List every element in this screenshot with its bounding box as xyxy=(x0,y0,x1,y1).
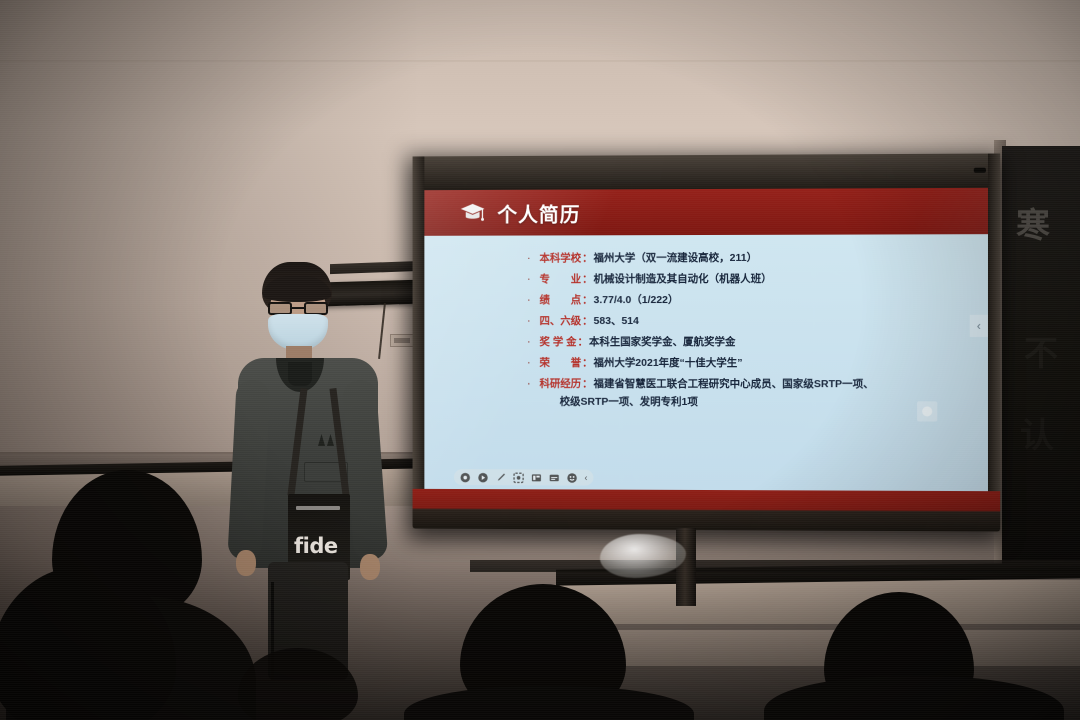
presenter: fide xyxy=(232,262,382,662)
emoji-icon[interactable] xyxy=(567,472,578,483)
display-stand-pole xyxy=(676,528,696,606)
bullet-dot: · xyxy=(527,335,531,349)
record-icon[interactable] xyxy=(460,472,471,483)
display-bezel-top xyxy=(413,153,1001,190)
classroom-presentation-photo: 寒 不 认 个人简历 xyxy=(0,0,1080,720)
bullet-separator: ： xyxy=(582,251,592,265)
slide-bullet: · 科研经历 ： 福建省智慧医工联合工程研究中心成员、国家级SRTP一项、 xyxy=(424,377,988,392)
bullet-dot: · xyxy=(527,251,531,265)
bullet-value: 583、514 xyxy=(594,314,639,328)
bullet-label: 四、六级 xyxy=(540,314,582,328)
bullet-value: 3.77/4.0（1/222） xyxy=(594,293,679,307)
chalk-mark: 寒 xyxy=(1016,198,1050,247)
interactive-whiteboard[interactable]: 个人简历 · 本科学校 ： 福州大学（双一流建设高校，211） · 专 业 ： … xyxy=(413,153,1001,531)
badge-text: fide xyxy=(294,534,338,558)
bullet-separator: ： xyxy=(582,293,592,307)
bullet-dot: · xyxy=(527,314,531,328)
pen-icon[interactable] xyxy=(495,472,506,483)
bullet-label: 绩 点 xyxy=(540,293,582,307)
slide-bullet: · 荣 誉 ： 福州大学2021年度“十佳大学生” xyxy=(424,356,988,370)
slide-bullet: · 奖 学 金 ： 本科生国家奖学金、厦航奖学金 xyxy=(424,335,988,349)
badge-top-line xyxy=(296,506,340,510)
slide-title-bar: 个人简历 xyxy=(424,188,988,236)
bullet-value: 福州大学（双一流建设高校，211） xyxy=(594,251,758,265)
bullet-label: 专 业 xyxy=(540,272,582,286)
bullet-dot: · xyxy=(527,356,531,370)
bullet-dot: · xyxy=(527,272,531,286)
slide-screen[interactable]: 个人简历 · 本科学校 ： 福州大学（双一流建设高校，211） · 专 业 ： … xyxy=(424,188,988,491)
bullet-value: 福建省智慧医工联合工程研究中心成员、国家级SRTP一项、 xyxy=(594,377,874,391)
bullet-dot: · xyxy=(527,377,531,391)
select-icon[interactable] xyxy=(513,472,524,483)
whiteboard-toolbar[interactable]: ‹ xyxy=(454,469,594,485)
presenter-hand-right xyxy=(360,554,380,580)
bullet-label: 科研经历 xyxy=(540,377,582,391)
slide-bullet: · 本科学校 ： 福州大学（双一流建设高校，211） xyxy=(424,250,988,265)
bullet-value: 福州大学2021年度“十佳大学生” xyxy=(594,356,743,370)
slide-bullet: · 专 业 ： 机械设计制造及其自动化（机器人班） xyxy=(424,271,988,286)
bullet-separator: ： xyxy=(582,272,592,286)
wall-seam xyxy=(0,60,1080,62)
desk-front-panel xyxy=(560,580,1080,624)
bullet-dot: · xyxy=(527,293,531,307)
slide-bullet: · 绩 点 ： 3.77/4.0（1/222） xyxy=(424,293,988,308)
screen-icon[interactable] xyxy=(531,472,542,483)
toolbar-collapse-icon[interactable]: ‹ xyxy=(584,473,587,483)
bullet-separator: ： xyxy=(582,356,592,370)
presenter-hand-left xyxy=(236,550,256,576)
bullet-value: 机械设计制造及其自动化（机器人班） xyxy=(594,272,772,286)
blackboard: 寒 不 认 xyxy=(1002,146,1080,566)
bullet-separator: ： xyxy=(578,335,588,349)
slide-body: · 本科学校 ： 福州大学（双一流建设高校，211） · 专 业 ： 机械设计制… xyxy=(424,234,988,491)
desk-surface xyxy=(470,560,1080,572)
face-mask xyxy=(268,314,328,350)
bullet-separator: ： xyxy=(582,314,592,328)
display-bezel-bottom xyxy=(413,489,1001,532)
subtitle-icon[interactable] xyxy=(549,472,560,483)
slide-bullet: · 四、六级 ： 583、514 xyxy=(424,314,988,328)
bullet-separator: ： xyxy=(582,377,592,391)
camera-icon xyxy=(974,168,986,173)
bullet-continuation: 校级SRTP一项、发明专利1项 xyxy=(424,395,988,410)
bullet-value: 本科生国家奖学金、厦航奖学金 xyxy=(589,335,736,349)
chevron-left-icon[interactable]: ‹ xyxy=(970,315,988,337)
display-bezel-left xyxy=(413,156,425,528)
play-icon[interactable] xyxy=(478,472,489,483)
graduation-cap-icon xyxy=(460,202,486,224)
chalk-mark: 认 xyxy=(1020,408,1054,457)
bullet-label: 本科学校 xyxy=(540,251,582,265)
slide-title: 个人简历 xyxy=(497,198,580,227)
display-bezel-right xyxy=(988,153,1000,531)
glasses-bridge xyxy=(292,307,304,309)
inner-shirt xyxy=(288,362,312,386)
record-watermark-icon xyxy=(917,401,937,421)
chalk-mark: 不 xyxy=(1024,326,1058,375)
bullet-label: 奖 学 金 xyxy=(540,335,577,349)
presenter-fringe xyxy=(263,276,331,302)
bullet-label: 荣 誉 xyxy=(540,356,582,370)
